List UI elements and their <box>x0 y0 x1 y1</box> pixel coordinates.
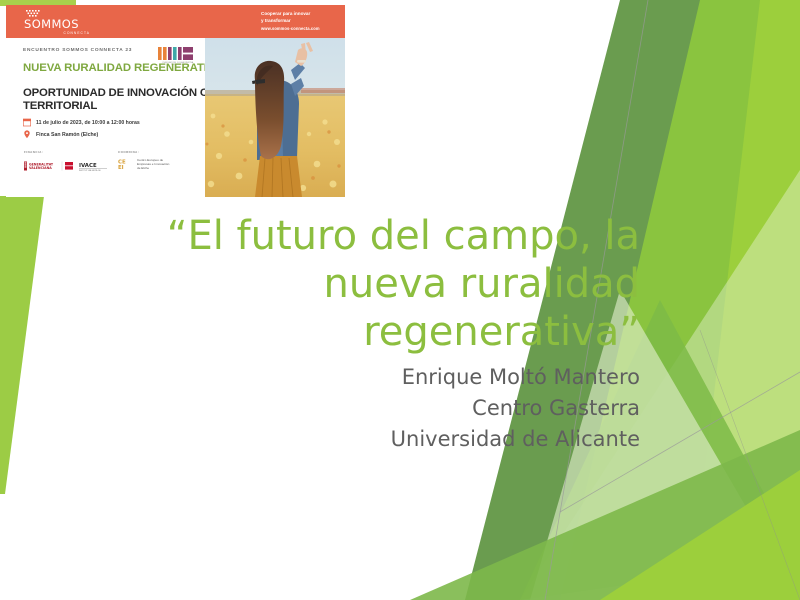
poster-title-green: NUEVA RURALIDAD REGENERATIVA: <box>23 62 225 75</box>
slide-subtitle: Enrique Moltó Mantero Centro Gasterra Un… <box>180 362 640 455</box>
right-bright-green-triangle <box>690 0 800 600</box>
event-poster: SOMMOS CONNECTA Cooperar para innovar y … <box>6 5 345 197</box>
slide-title: “El futuro del campo, la nueva ruralidad… <box>150 212 640 356</box>
location-pin-icon <box>23 130 31 139</box>
woman-in-flower-field-photo <box>205 38 345 197</box>
gva-logo-icon: GENERALITAT VALENCIANA <box>24 161 76 171</box>
ivace-logo: IVACE INSTITUT VALENCIÀ DE <box>79 159 111 177</box>
poster-date-text: 11 de julio de 2023, de 10:00 a 12:00 ho… <box>36 120 140 126</box>
ivace-logo-icon: IVACE INSTITUT VALENCIÀ DE <box>79 162 111 172</box>
poster-header: SOMMOS CONNECTA Cooperar para innovar y … <box>6 5 345 38</box>
coordina-label: COORDINA: <box>118 150 139 154</box>
claim-line-2: y transformar <box>261 18 343 25</box>
sommos-logo: SOMMOS CONNECTA <box>24 10 90 35</box>
left-green-wedge <box>0 196 44 494</box>
svg-text:EI: EI <box>118 165 124 170</box>
claim-line-1: Cooperar para innovar <box>261 11 343 18</box>
calendar-icon <box>23 118 31 127</box>
poster-claim: Cooperar para innovar y transformar www.… <box>261 11 343 33</box>
poster-place-text: Finca San Ramón (Elche) <box>36 132 98 138</box>
sommos-brand-sub: CONNECTA <box>24 31 90 35</box>
slide-title-line-1: “El futuro del campo, la <box>150 212 640 260</box>
poster-url: www.sommos-connecta.com <box>261 26 343 33</box>
poster-photo <box>205 38 345 197</box>
iiib-bars-icon <box>158 47 198 61</box>
ceei-logo: CE EI Centro Europeo de Empresas e Innov… <box>118 158 169 170</box>
bottom-bright-wedge <box>600 470 800 600</box>
bottom-green-band <box>410 430 800 600</box>
hairline-diagonal-3 <box>700 330 800 600</box>
poster-date-row: 11 de julio de 2023, de 10:00 a 12:00 ho… <box>23 118 140 127</box>
svg-text:INSTITUT VALENCIÀ DE: INSTITUT VALENCIÀ DE <box>79 169 102 172</box>
svg-text:IVACE: IVACE <box>79 163 97 169</box>
financia-label: FINANCIA: <box>24 150 43 154</box>
poster-body: ENCUENTRO SOMMOS CONNECTA 23 INNOVACIÓN … <box>6 38 345 197</box>
presentation-slide: SOMMOS CONNECTA Cooperar para innovar y … <box>0 0 800 600</box>
ceei-logo-icon: CE EI <box>118 158 134 170</box>
slide-title-line-2: nueva ruralidad <box>150 260 640 308</box>
poster-place-row: Finca San Ramón (Elche) <box>23 130 98 139</box>
ceei-line-3: de Elche <box>137 166 169 170</box>
author-institution: Universidad de Alicante <box>180 424 640 455</box>
generalitat-valenciana-logo: GENERALITAT VALENCIANA <box>24 158 76 176</box>
slide-title-line-3: regenerativa” <box>150 308 640 356</box>
ceei-description: Centro Europeo de Empresas e Innovación … <box>137 158 169 170</box>
svg-text:VALENCIANA: VALENCIANA <box>29 166 52 170</box>
author-name: Enrique Moltó Mantero <box>180 362 640 393</box>
sommos-dots-icon <box>26 10 48 17</box>
author-affiliation: Centro Gasterra <box>180 393 640 424</box>
sommos-brand-name: SOMMOS <box>24 18 90 30</box>
poster-eyebrow: ENCUENTRO SOMMOS CONNECTA 23 <box>23 48 132 53</box>
